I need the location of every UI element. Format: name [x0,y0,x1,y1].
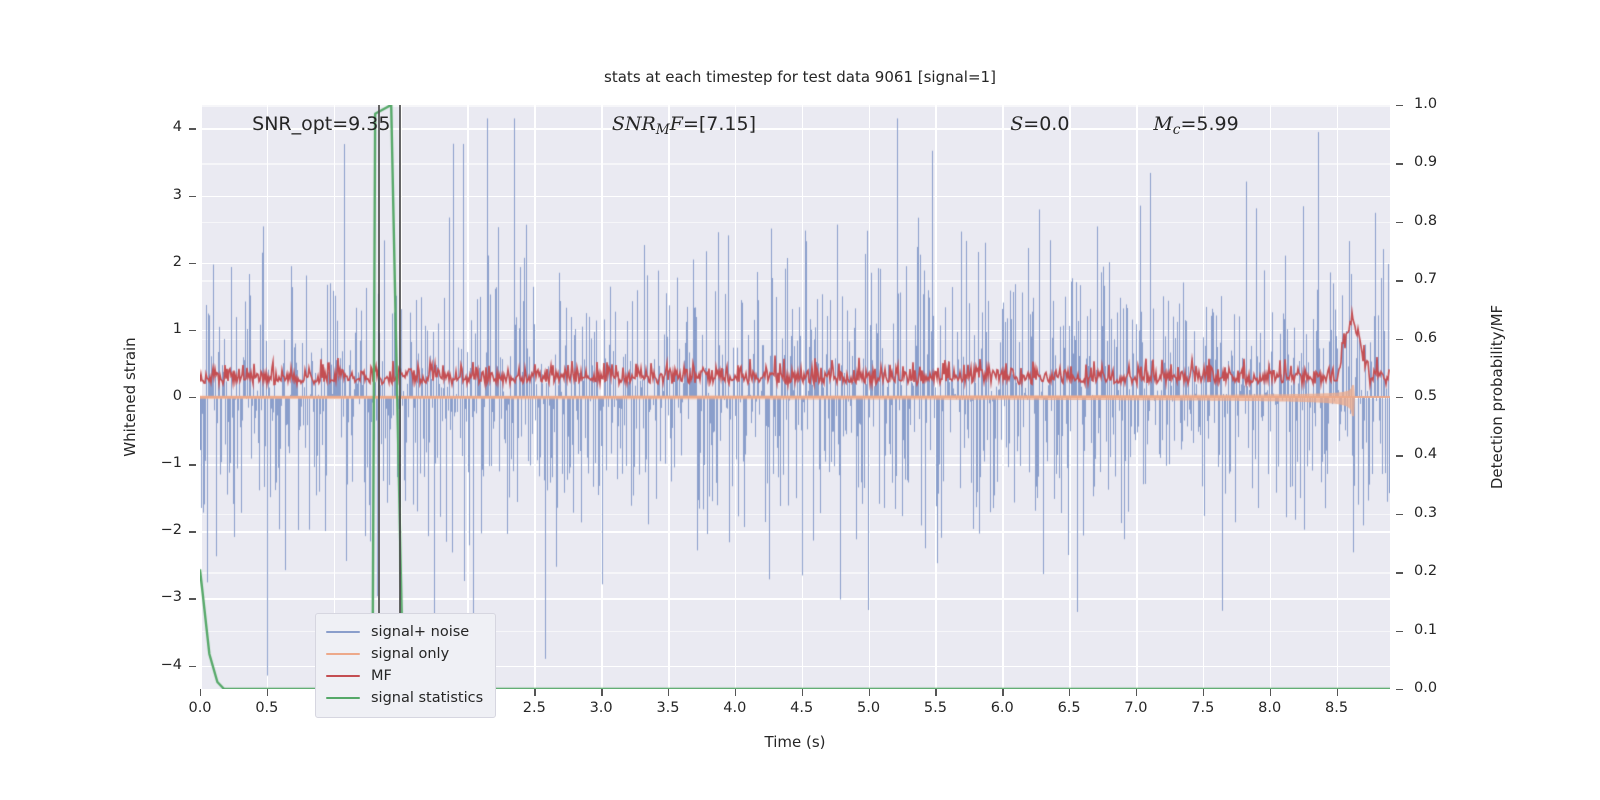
x-tick-mark-11 [935,689,936,696]
x-tick-label-5: 2.5 [523,700,546,716]
legend-swatch-icon [326,631,360,634]
y2-tick-mark-1 [1396,163,1403,164]
x-tick-label-14: 7.0 [1124,700,1147,716]
y-tick-label-8: −4 [150,657,182,673]
legend-item-label: signal only [371,646,449,662]
y-tick-label-3: 1 [150,321,182,337]
y2-tick-label-3: 0.7 [1414,271,1437,287]
y2-tick-label-5: 0.5 [1414,388,1437,404]
annotation-snr_opt: SNR_opt=9.35 [252,113,390,135]
x-tick-mark-15 [1203,689,1204,696]
chart-legend[interactable]: signal+ noisesignal onlyMFsignal statist… [315,613,496,718]
y-tick-label-2: 2 [150,254,182,270]
y2-tick-mark-6 [1396,455,1403,456]
y-tick-label-6: −2 [150,522,182,538]
y2-tick-mark-8 [1396,572,1403,573]
x-tick-label-1: 0.5 [255,700,278,716]
y2-tick-mark-7 [1396,514,1403,515]
y-tick-label-5: −1 [150,455,182,471]
legend-item-label: signal+ noise [371,624,469,640]
x-tick-label-11: 5.5 [924,700,947,716]
x-tick-mark-9 [802,689,803,696]
y2-tick-label-7: 0.3 [1414,505,1437,521]
y2-tick-mark-4 [1396,339,1403,340]
y-tick-mark-0 [189,128,196,129]
x-tick-mark-14 [1136,689,1137,696]
y-tick-mark-5 [189,464,196,465]
y-tick-mark-8 [189,666,196,667]
x-tick-mark-0 [200,689,201,696]
x-tick-mark-8 [735,689,736,696]
legend-item-1[interactable]: signal only [326,643,483,665]
x-tick-label-16: 8.0 [1258,700,1281,716]
x-tick-mark-7 [668,689,669,696]
x-tick-label-17: 8.5 [1325,700,1348,716]
x-tick-label-13: 6.5 [1058,700,1081,716]
y-tick-mark-3 [189,330,196,331]
y-tick-mark-6 [189,531,196,532]
x-tick-mark-1 [267,689,268,696]
y2-tick-mark-10 [1396,689,1403,690]
vertical-marker-0 [378,105,380,689]
y-tick-label-0: 4 [150,119,182,135]
chart-figure: stats at each timestep for test data 906… [0,0,1600,800]
y2-tick-mark-0 [1396,105,1403,106]
annotation-s_stat: S=0.0 [1010,113,1069,135]
y-tick-mark-7 [189,598,196,599]
x-tick-label-15: 7.5 [1191,700,1214,716]
x-tick-label-9: 4.5 [790,700,813,716]
y-tick-mark-4 [189,397,196,398]
y2-tick-label-8: 0.2 [1414,563,1437,579]
x-tick-mark-12 [1002,689,1003,696]
legend-item-label: signal statistics [371,690,483,706]
y2-tick-mark-5 [1396,397,1403,398]
y-tick-label-4: 0 [150,388,182,404]
y2-tick-label-1: 0.9 [1414,154,1437,170]
x-tick-mark-10 [869,689,870,696]
legend-swatch-icon [326,653,360,656]
y-tick-mark-2 [189,263,196,264]
x-tick-mark-16 [1270,689,1271,696]
legend-item-2[interactable]: MF [326,665,483,687]
vertical-marker-1 [399,105,401,689]
x-tick-mark-13 [1069,689,1070,696]
y2-tick-mark-9 [1396,631,1403,632]
y2-tick-mark-3 [1396,280,1403,281]
x-tick-label-0: 0.0 [188,700,211,716]
legend-swatch-icon [326,697,360,700]
y2-tick-label-4: 0.6 [1414,330,1437,346]
legend-swatch-icon [326,675,360,678]
y-tick-mark-1 [189,196,196,197]
x-tick-mark-17 [1337,689,1338,696]
annotation-snr_mf: SNRMF=[7.15] [612,113,756,138]
legend-item-0[interactable]: signal+ noise [326,621,483,643]
annotation-mchirp: Mc=5.99 [1153,113,1238,138]
y2-tick-label-6: 0.4 [1414,446,1437,462]
legend-item-3[interactable]: signal statistics [326,687,483,709]
x-tick-mark-5 [534,689,535,696]
y2-tick-label-0: 1.0 [1414,96,1437,112]
y2-tick-label-10: 0.0 [1414,680,1437,696]
chart-title: stats at each timestep for test data 906… [0,68,1600,86]
y2-tick-label-2: 0.8 [1414,213,1437,229]
plot-area: SNR_opt=9.35SNRMF=[7.15]S=0.0Mc=5.99 [200,105,1390,689]
x-axis-label: Time (s) [765,733,826,751]
x-tick-label-12: 6.0 [991,700,1014,716]
secondary-y-axis-label: Detection probability/MF [1488,305,1506,489]
x-tick-label-8: 4.0 [723,700,746,716]
y-axis-label: Whitened strain [121,337,139,456]
x-tick-label-10: 5.0 [857,700,880,716]
y2-tick-label-9: 0.1 [1414,622,1437,638]
x-tick-label-7: 3.5 [656,700,679,716]
y-tick-label-7: −3 [150,589,182,605]
y-tick-label-1: 3 [150,187,182,203]
x-tick-mark-6 [601,689,602,696]
legend-item-label: MF [371,668,392,684]
x-tick-label-6: 3.0 [590,700,613,716]
y2-tick-mark-2 [1396,222,1403,223]
